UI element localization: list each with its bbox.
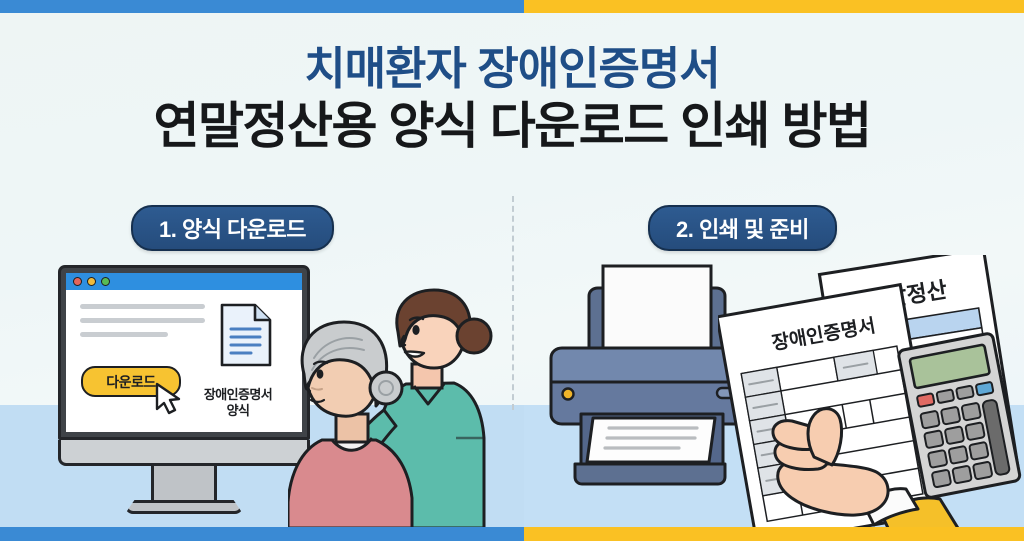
top-accent-bar-yellow xyxy=(524,0,1024,13)
step-badge-1-label: 1. 양식 다운로드 xyxy=(159,212,306,244)
placeholder-text-line xyxy=(80,304,205,309)
monitor-stand-neck xyxy=(151,466,217,500)
window-minimize-dot-icon[interactable] xyxy=(87,277,96,286)
bottom-accent-bar-blue xyxy=(0,527,524,541)
window-maximize-dot-icon[interactable] xyxy=(101,277,110,286)
step-badge-2: 2. 인쇄 및 준비 xyxy=(648,205,837,251)
documents-illustration: 연말정산 장애인증명서 xyxy=(718,255,1024,541)
title-line-1: 치매환자 장애인증명서 xyxy=(0,42,1024,95)
page-title: 치매환자 장애인증명서 연말정산용 양식 다운로드 인쇄 방법 xyxy=(0,42,1024,155)
top-accent-bar xyxy=(0,0,1024,13)
document-icon-label: 장애인증명서 양식 xyxy=(184,387,292,418)
monitor-body: 다운로드 xyxy=(58,265,310,440)
title-line-2: 연말정산용 양식 다운로드 인쇄 방법 xyxy=(0,97,1024,155)
monitor-stand-foot xyxy=(125,500,243,514)
document-label-line-1: 장애인증명서 xyxy=(184,387,292,403)
browser-content: 다운로드 xyxy=(66,290,302,432)
monitor-illustration: 다운로드 xyxy=(58,265,310,514)
window-close-dot-icon[interactable] xyxy=(73,277,82,286)
monitor-chin xyxy=(58,440,310,466)
mouse-pointer-icon xyxy=(154,382,184,416)
placeholder-text-line xyxy=(80,318,205,323)
document-icon xyxy=(218,302,274,368)
bottom-accent-bar-yellow xyxy=(524,527,1024,541)
infographic-canvas: 치매환자 장애인증명서 연말정산용 양식 다운로드 인쇄 방법 1. 양식 다운… xyxy=(0,0,1024,541)
bottom-accent-bar xyxy=(0,527,1024,541)
top-accent-bar-blue xyxy=(0,0,524,13)
document-label-line-2: 양식 xyxy=(184,403,292,419)
section-divider xyxy=(512,196,514,410)
people-illustration xyxy=(288,288,498,528)
monitor-screen: 다운로드 xyxy=(66,273,302,432)
step-badge-2-label: 2. 인쇄 및 준비 xyxy=(676,212,809,244)
browser-title-bar xyxy=(66,273,302,290)
download-button-label: 다운로드 xyxy=(106,372,156,392)
printer-power-led-icon xyxy=(563,389,574,400)
step-badge-1: 1. 양식 다운로드 xyxy=(131,205,334,251)
placeholder-text-line xyxy=(80,332,168,337)
